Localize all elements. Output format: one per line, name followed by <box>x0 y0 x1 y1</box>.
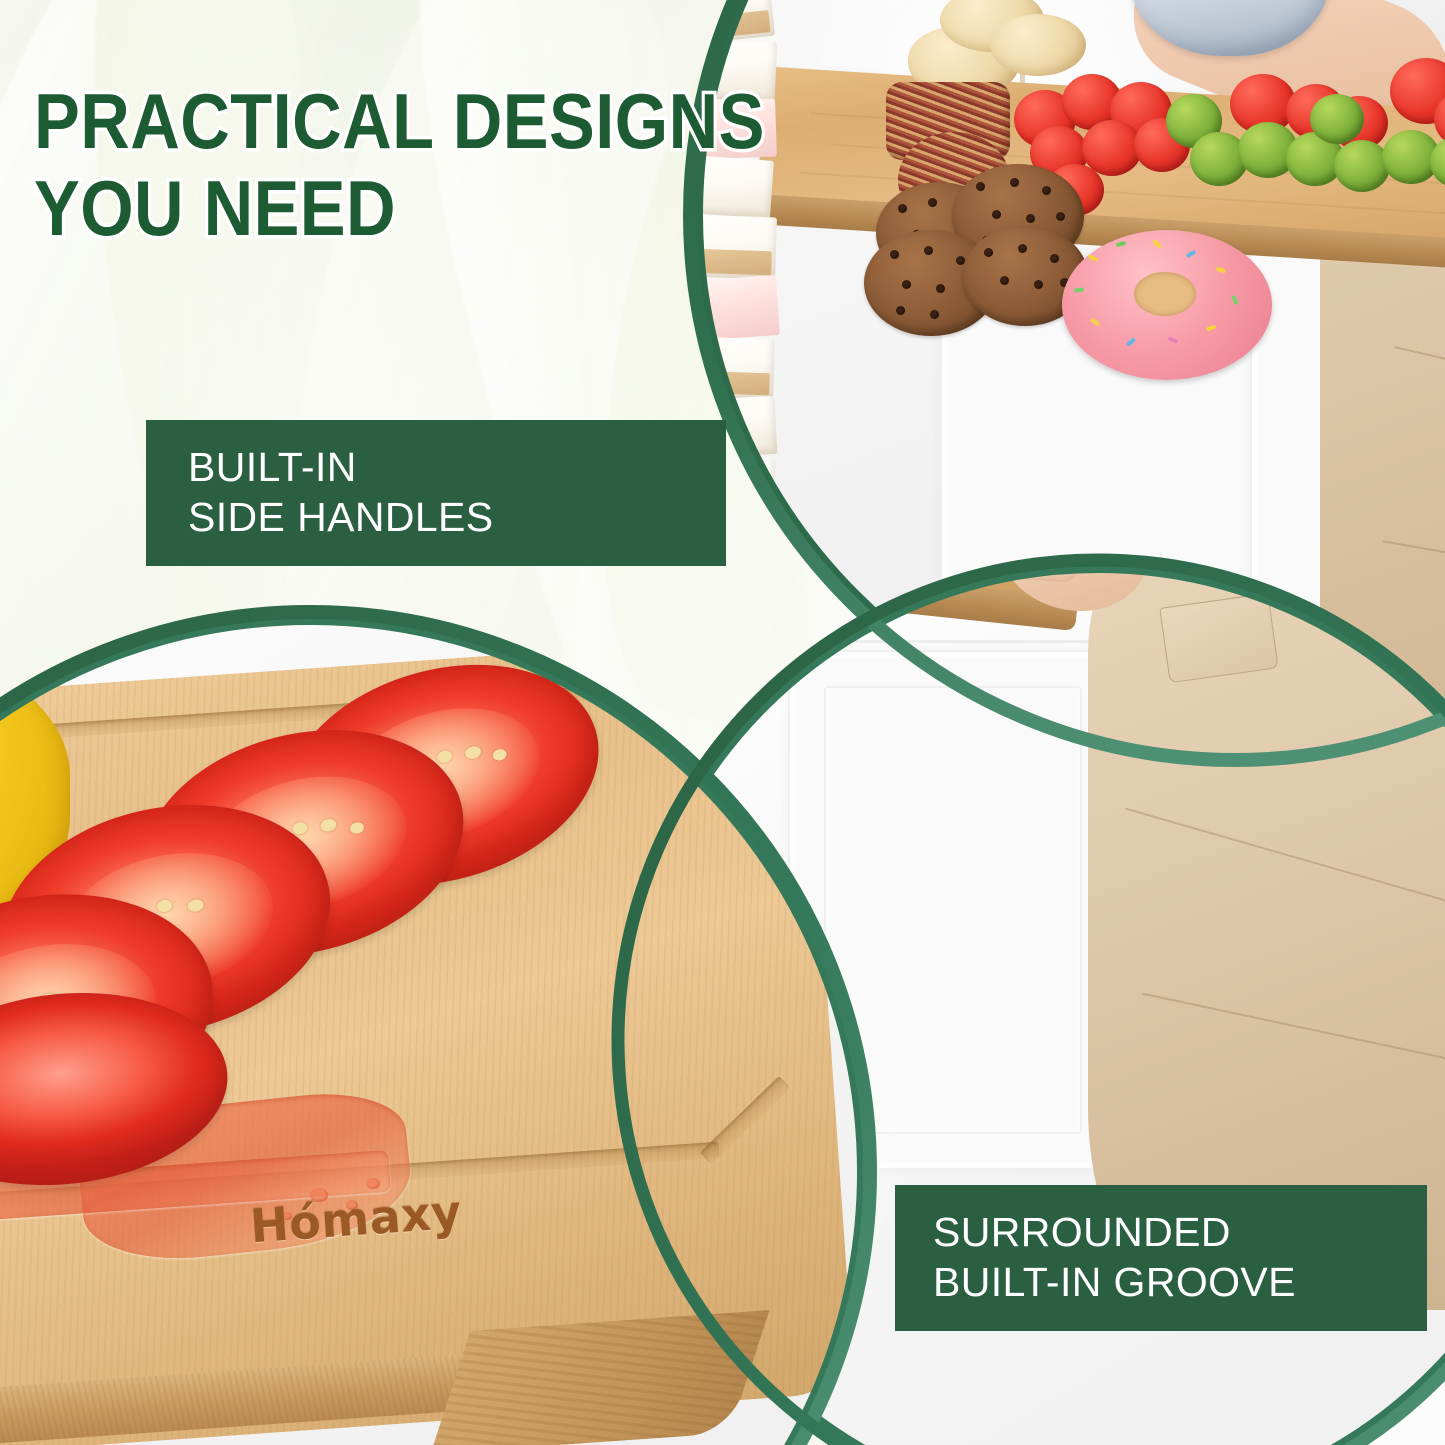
banner-handles-line-1: BUILT-IN <box>188 442 726 492</box>
feature-banner-side-handles: BUILT-IN SIDE HANDLES <box>146 420 726 566</box>
page-title: PRACTICAL DESIGNS YOU NEED <box>34 78 703 253</box>
banner-groove-line-1: SURROUNDED <box>933 1207 1427 1257</box>
banner-groove-line-2: BUILT-IN GROOVE <box>933 1257 1427 1307</box>
headline-line-2: YOU NEED <box>34 165 703 252</box>
photo-bottom-left: Hómaxy <box>0 612 870 1445</box>
infographic-canvas: Hómaxy PRACTICAL DESIGNS YOU NEED <box>0 0 1445 1445</box>
feature-banner-groove: SURROUNDED BUILT-IN GROOVE <box>895 1185 1427 1331</box>
banner-handles-line-2: SIDE HANDLES <box>188 492 726 542</box>
headline-line-1: PRACTICAL DESIGNS <box>34 78 703 165</box>
